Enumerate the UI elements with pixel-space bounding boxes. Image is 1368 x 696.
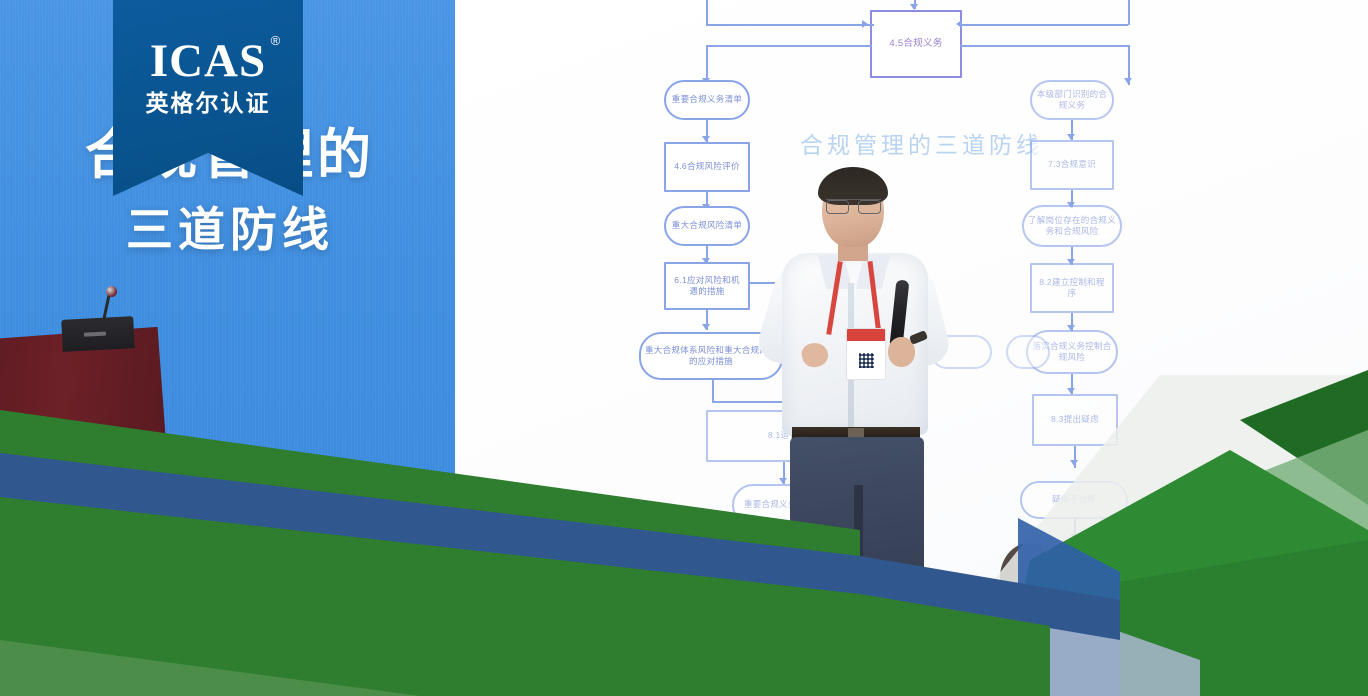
decor-bands: [0, 0, 1368, 696]
stage-photo: 合规管理的 三道防线 ICAS® 英格尔认证 合规管理的三道防线 4.5合规义务: [0, 0, 1368, 696]
